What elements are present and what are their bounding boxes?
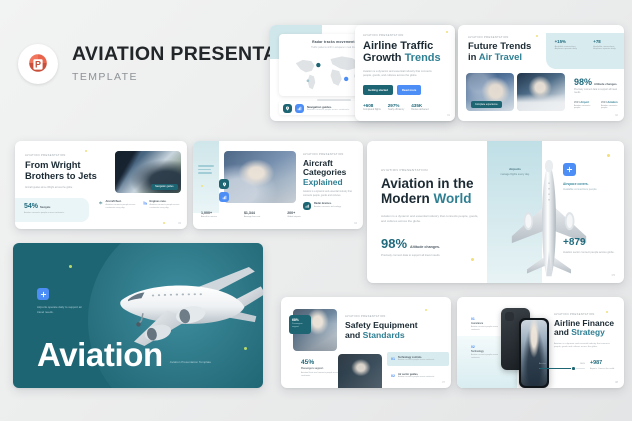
- stat-value: 297%: [388, 103, 404, 108]
- list-item-body: Aviation connects people across continen…: [398, 359, 435, 362]
- page-number: 03: [178, 222, 181, 225]
- stat-sub: Aviation connects people.: [574, 105, 591, 109]
- stat-sub: Airplanes operate daily.: [593, 48, 616, 50]
- stat-item: 2024 Aviation Aviation connects people.: [601, 101, 618, 109]
- slide-title-line1: Aviation in the: [381, 176, 474, 191]
- photo-video-call: [521, 320, 547, 386]
- slider-right-label: 100%: [580, 363, 585, 365]
- stat-item: +608 Completed flights: [363, 103, 381, 111]
- right-stat-label: Aviation sector connect people across gl…: [563, 251, 615, 255]
- slide-eyebrow: Aviation Presentation: [25, 154, 109, 157]
- stat-item: 297% Yearly efficiency: [388, 103, 404, 111]
- map-pin-icon[interactable]: [283, 104, 292, 113]
- big-stat-value: 98%: [381, 236, 407, 251]
- slide-eyebrow: Aviation Presentation: [554, 313, 616, 316]
- stat-item: +15% Available connections Airplanes ope…: [555, 39, 578, 50]
- list-item[interactable]: 02 Technology Aviation connects people a…: [471, 345, 505, 359]
- hero-title: Aviation: [37, 339, 163, 370]
- slide-eyebrow: Aviation Presentation: [363, 34, 447, 37]
- slide-body-text: Aviation is a dynamic and essential indu…: [554, 343, 616, 350]
- decor-dot: [425, 309, 427, 311]
- slide-eyebrow: Aviation Presentation: [303, 153, 359, 156]
- stat-item: 200+ Global airports: [287, 211, 301, 218]
- stat-sub: Aviation connects people.: [601, 105, 618, 109]
- stat-label: Airports. Connect the world.: [590, 368, 622, 371]
- plus-icon[interactable]: [563, 163, 576, 176]
- stat-label: Average fare cost: [244, 216, 260, 218]
- slide-thumbnail-aviation-hero[interactable]: Airports operate daily to support air tr…: [13, 243, 263, 388]
- decor-side-column: [193, 141, 219, 213]
- plus-icon[interactable]: [37, 288, 49, 300]
- feature-title: Engines race.: [150, 200, 183, 203]
- list-item-number: 01: [391, 357, 395, 361]
- primary-cta-button[interactable]: Getting started: [363, 85, 393, 95]
- slide-body-text: Aircraft guides since Wright across the …: [25, 186, 109, 190]
- feature-title: Radar devices.: [314, 202, 341, 205]
- powerpoint-logo-icon: P: [18, 44, 58, 84]
- stat-sub: Aviation fleets and connects people acro…: [301, 372, 343, 378]
- hero-subtitle: Aviation Presentation Template: [170, 360, 211, 370]
- slide-title-line1: Future Trends: [468, 41, 531, 52]
- slide-thumbnail-future-trends[interactable]: Aviation Presentation Future Trends in A…: [458, 25, 624, 121]
- decor-dot: [446, 31, 448, 33]
- slide-body-text: Aviation is a dynamic and essential indu…: [381, 214, 483, 223]
- list-item[interactable]: 02 Air sector guides. Aviation connects …: [387, 369, 449, 383]
- photo-passenger-phone: [224, 151, 296, 203]
- stat-value: 54%: [24, 203, 38, 210]
- feature-body: Aviation connects people across continen…: [150, 204, 183, 210]
- secondary-cta-button[interactable]: Read more: [397, 85, 421, 95]
- slide-title-accent: Air Travel: [479, 52, 522, 63]
- stat-item: $1,344 Average fare cost: [244, 211, 260, 218]
- stat-item: 2021 Airport Aviation connects people.: [574, 101, 591, 109]
- slide-thumbnail-safety-equipment[interactable]: 68% Passengers support. Aviation Present…: [281, 297, 451, 388]
- stat-label: Airport: [580, 101, 589, 104]
- stat-value: 2024: [601, 101, 607, 104]
- decor-dot: [607, 154, 610, 157]
- stat-value: +987: [590, 360, 622, 366]
- list-item-title: Assistance: [471, 323, 505, 325]
- big-stat-value: 98%: [574, 77, 592, 87]
- stat-value: 45%: [301, 359, 343, 366]
- decor-dot: [163, 222, 165, 224]
- chart-bar-icon[interactable]: [219, 192, 229, 202]
- hero-note: Airports operate daily to support air tr…: [37, 305, 85, 314]
- stat-label: Navigate: [40, 206, 50, 209]
- list-item-body: Aviation connects people across continen…: [471, 326, 505, 332]
- stat-sub: Aviation connects people across continen…: [24, 212, 80, 215]
- stat-value: 2021: [574, 101, 580, 104]
- stat-value: 435K: [411, 103, 428, 108]
- slide-body-text: Aviation is a dynamic and essential indu…: [303, 191, 359, 198]
- progress-slider[interactable]: Aviation 100%: [539, 363, 585, 369]
- big-stat-sub: Precisely connect data to support all tr…: [381, 254, 483, 258]
- stat-value: 200+: [287, 211, 301, 215]
- slide-title-line2: Brothers to Jets: [25, 170, 97, 181]
- stat-label: Aviation: [607, 101, 617, 104]
- feature-body: Aviation connects technology.: [314, 206, 341, 209]
- decor-dot: [69, 265, 72, 268]
- badge-label: Passengers support.: [292, 323, 308, 329]
- chart-bar-icon: [303, 202, 311, 210]
- stat-label: Routes delivered: [411, 109, 428, 111]
- map-pin-icon[interactable]: [219, 179, 229, 189]
- list-item-number: 02: [391, 374, 395, 378]
- slide-title-line2-plain: and: [554, 327, 571, 337]
- engine-icon: [143, 200, 147, 206]
- list-item-body: Aviation connects people across continen…: [471, 354, 505, 360]
- list-item[interactable]: 01 Assistance Aviation connects people a…: [471, 317, 505, 331]
- slide-title-accent: World: [434, 191, 472, 206]
- page-number: 02: [615, 114, 618, 117]
- slide-body-text: Aviation is a dynamic and essential indu…: [363, 70, 435, 78]
- list-item-number: 01: [471, 317, 505, 321]
- page-number: 05: [612, 273, 615, 277]
- slider-fill: [539, 368, 572, 370]
- slide-title-accent: Strategy: [571, 327, 605, 337]
- badge-value: 68%: [292, 318, 308, 322]
- feature-item: Aircraft fleet. Aviation connects people…: [99, 200, 139, 210]
- stat-value: +15%: [555, 39, 578, 44]
- feature-body: Aviation connects people across continen…: [106, 204, 139, 210]
- list-item-body: Aviation connects people across continen…: [398, 376, 435, 379]
- stat-value: $1,344: [244, 211, 260, 215]
- slide-thumbnail-airline-traffic[interactable]: Aviation Presentation Airline Traffic Gr…: [355, 25, 455, 121]
- phone-front-mockup: [519, 318, 549, 388]
- photo-passenger-laptop: [517, 73, 565, 111]
- slide-thumbnail-aircraft-categories[interactable]: Aviation Presentation Aircraft Categorie…: [193, 141, 363, 229]
- slide-title-accent: Standards: [363, 330, 405, 340]
- slide-thumbnail-modern-world[interactable]: Aviation Presentation Aviation in the Mo…: [367, 141, 624, 283]
- powerpoint-logo-letter: P: [35, 59, 41, 69]
- page-number: 08: [615, 381, 618, 384]
- right-note-body: Available connections people.: [563, 188, 615, 191]
- stat-highlight-block: 54% Navigate Aviation connects people ac…: [15, 198, 89, 222]
- stat-value: +608: [363, 103, 381, 108]
- stat-label: Global airports: [287, 216, 301, 218]
- stat-value: +78: [593, 39, 616, 44]
- slide-title-line1: From Wright: [25, 159, 81, 170]
- slide-thumbnail-wright-brothers[interactable]: Aviation Presentation From Wright Brothe…: [15, 141, 187, 229]
- big-stat-label: Altitude changes.: [410, 245, 440, 249]
- list-item-title: Technology: [471, 351, 505, 353]
- stat-label: Yearly efficiency: [388, 109, 404, 111]
- slide-title-accent: Explained: [303, 177, 343, 187]
- photo-badge[interactable]: Navigation guides.: [151, 184, 178, 190]
- slide-eyebrow: Aviation Presentation: [468, 36, 548, 39]
- stat-badge: 68% Passengers support.: [289, 315, 311, 334]
- stat-label: Passengers support.: [301, 368, 343, 370]
- stat-label: Completed flights: [363, 109, 381, 111]
- stat-sub: Airplanes operate daily.: [555, 48, 578, 50]
- list-item-number: 02: [471, 345, 505, 349]
- feature-title: Aircraft fleet.: [106, 200, 139, 203]
- slide-eyebrow: Aviation Presentation: [381, 168, 483, 172]
- stat-item: 435K Routes delivered: [411, 103, 428, 111]
- slide-thumbnail-airline-finance[interactable]: 01 Assistance Aviation connects people a…: [457, 297, 624, 388]
- stat-label: Aircraft in service: [201, 216, 217, 218]
- photo-passenger-window: Complete experience.: [466, 73, 514, 111]
- right-stat-value: +879: [563, 237, 615, 248]
- slide-title-line2-plain: Modern: [381, 191, 434, 206]
- airplane-icon: [99, 200, 103, 206]
- feature-item: Radar devices. Aviation connects technol…: [303, 202, 359, 210]
- photo-passenger-working: [338, 354, 382, 388]
- stat-item: +78 Available connections Airplanes oper…: [593, 39, 616, 50]
- decor-dot: [85, 150, 87, 152]
- photo-cta-badge[interactable]: Complete experience.: [471, 101, 502, 108]
- decor-dot: [471, 258, 474, 261]
- slider-left-label: Aviation: [539, 363, 546, 365]
- slide-title-line2-plain: and: [345, 330, 363, 340]
- list-item[interactable]: 01 Technology controls. Aviation connect…: [387, 352, 449, 366]
- slide-title-line2-plain: in: [468, 52, 479, 63]
- photo-cockpit-window: Navigation guides.: [115, 151, 181, 193]
- stat-value: 1,000+: [201, 211, 217, 215]
- page-number: 07: [442, 381, 445, 384]
- stat-item: 1,000+ Aircraft in service: [201, 211, 217, 218]
- slider-handle[interactable]: [571, 366, 576, 371]
- slide-title-line1: Airline Traffic: [363, 40, 433, 52]
- slide-eyebrow: Aviation Presentation: [345, 315, 437, 318]
- slide-title-accent: Trends: [405, 52, 441, 64]
- page-number: 04: [354, 222, 357, 225]
- chart-bar-icon[interactable]: [295, 104, 304, 113]
- slide-title-line2: Growth: [363, 52, 402, 64]
- slide-title-line1: Safety Equipment: [345, 320, 418, 330]
- right-note-title: Airspace covers.: [563, 182, 615, 186]
- big-stat-label: Altitude changes.: [594, 82, 617, 86]
- page-number: 01: [447, 114, 450, 117]
- feature-item: Engines race. Aviation connects people a…: [143, 200, 183, 210]
- big-stat-sub: Precisely connect data to support all tr…: [574, 89, 618, 96]
